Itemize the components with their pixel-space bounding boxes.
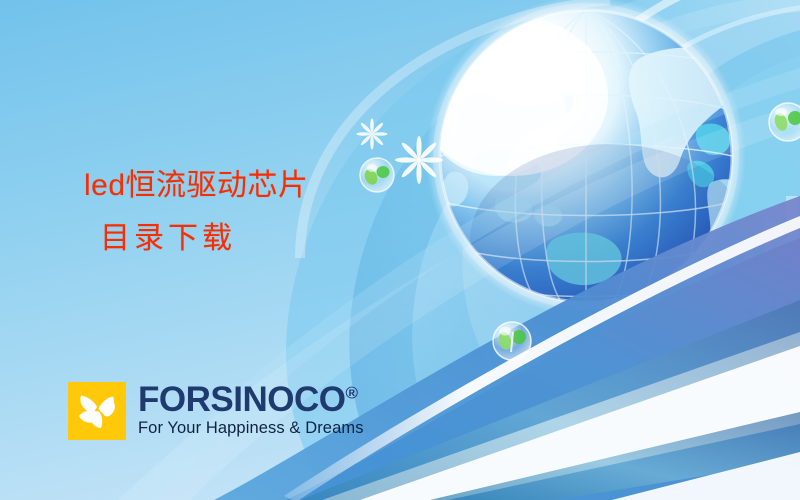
registered-trademark-symbol: ® xyxy=(345,383,358,402)
forsinoco-pinwheel-mark xyxy=(68,382,126,440)
logo-wordmark: FORSINOCO® xyxy=(138,383,364,417)
sparkle-flower-small xyxy=(357,119,388,150)
sparkle-flower-large xyxy=(395,136,443,184)
logo-wordmark-text: FORSINOCO xyxy=(138,380,345,419)
logo-text-block: FORSINOCO® For Your Happiness & Dreams xyxy=(138,382,364,438)
company-logo: FORSINOCO® For Your Happiness & Dreams xyxy=(68,382,364,440)
eco-bubble-center xyxy=(493,322,531,360)
poster-canvas: led恒流驱动芯片 目录下载 FORSINOCO® For Your Happi… xyxy=(0,0,800,500)
eco-bubble-left xyxy=(360,158,394,192)
logo-tagline: For Your Happiness & Dreams xyxy=(138,419,364,438)
pinwheel-icon xyxy=(68,382,126,440)
eco-bubble-right xyxy=(769,103,800,141)
